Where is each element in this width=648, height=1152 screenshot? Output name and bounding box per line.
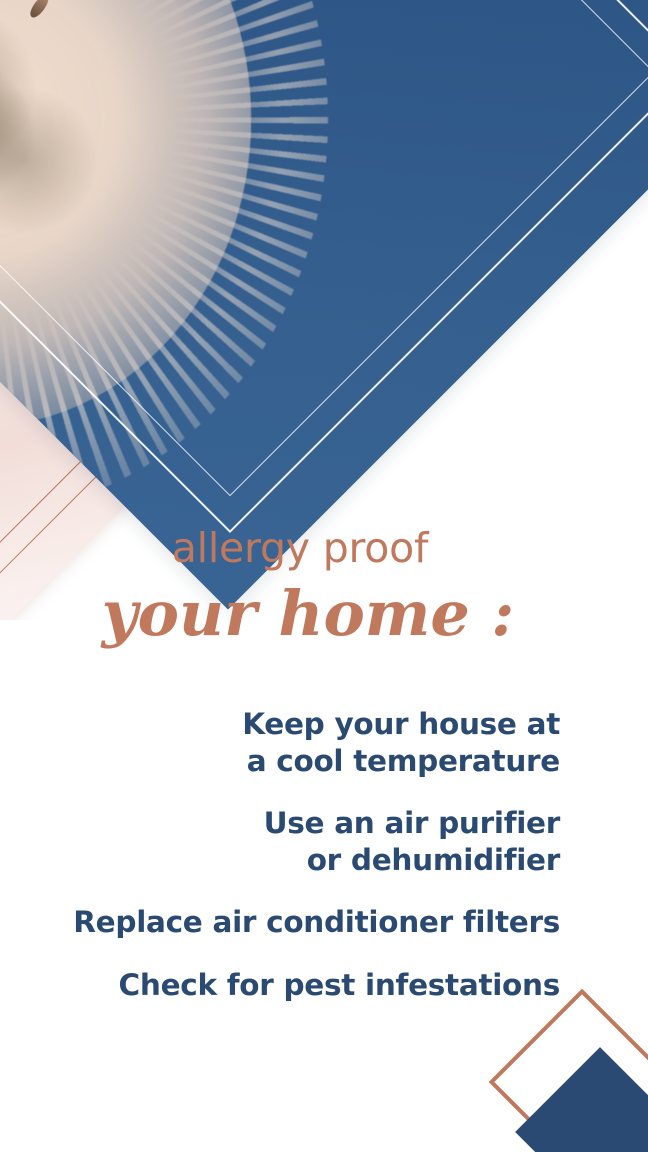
- tip-item: Replace air conditioner filters: [0, 904, 560, 941]
- dandelion-sky-photo: [0, 0, 648, 609]
- tip-item: Check for pest infestations: [0, 967, 560, 1004]
- white-frame-inner: [0, 0, 648, 496]
- main-photo-card: [0, 0, 648, 609]
- terracotta-frame-inner: [0, 287, 89, 620]
- tip-item: Use an air purifier or dehumidifier: [0, 805, 560, 878]
- heading-line-2: your home :: [0, 581, 616, 646]
- dandelion-seedhead: [0, 0, 252, 428]
- tips-list: Keep your house at a cool temperature Us…: [0, 706, 648, 1003]
- heading-line-1: allergy proof: [0, 527, 600, 570]
- tip-item: Keep your house at a cool temperature: [0, 706, 560, 779]
- seed-speck: [28, 0, 52, 20]
- white-frame-outer: [0, 0, 648, 533]
- poster-canvas: allergy proof your home : Keep your hous…: [0, 0, 648, 1152]
